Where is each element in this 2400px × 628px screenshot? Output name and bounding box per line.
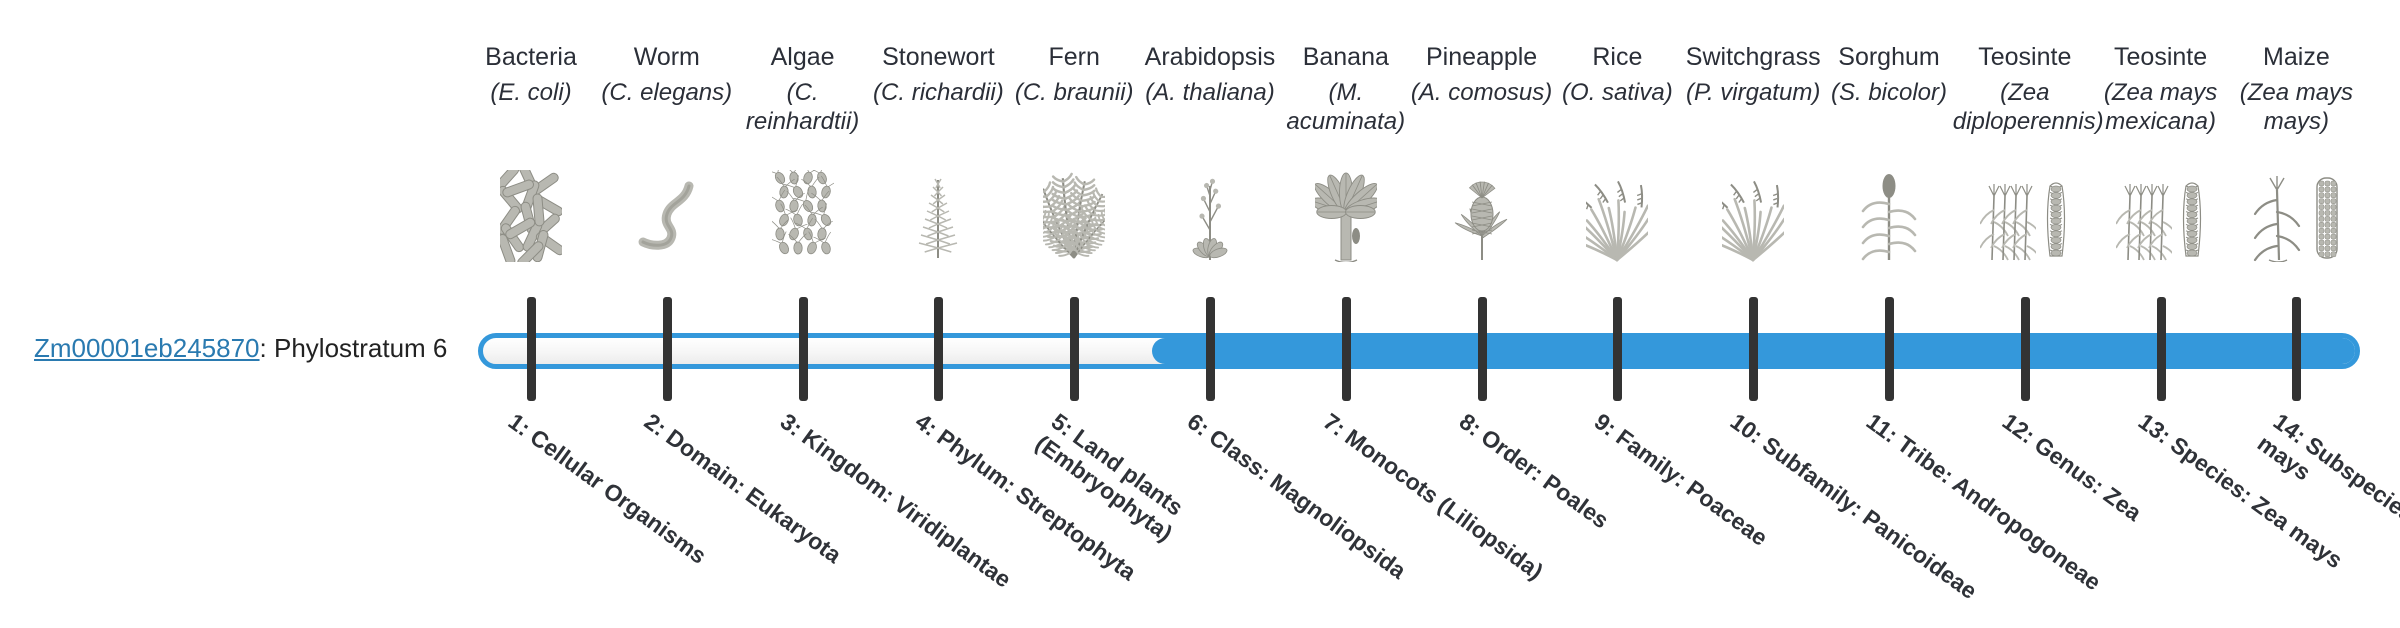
phylostratum-name: (Liliopsida) xyxy=(1433,491,1548,584)
phylostratum-tick-6 xyxy=(1206,297,1215,401)
phylostratum-label-3: 3: Kingdom: Viridiplantae xyxy=(775,408,1034,606)
phylostratum-rank: Domain: xyxy=(661,424,751,499)
species-scientific-name: (C. braunii) xyxy=(1002,78,1146,107)
phylostratum-tick-10 xyxy=(1749,297,1758,401)
gene-phylostratum-label: Zm00001eb245870: Phylostratum 6 xyxy=(34,333,447,364)
phylostratum-rank: Phylum: xyxy=(933,424,1022,498)
phylostratum-label-8: 8: Order: Poales xyxy=(1454,408,1713,606)
species-common-name: Worm xyxy=(599,42,735,72)
species-scientific-name: (C. reinhardtii) xyxy=(731,78,875,136)
phylostratum-name: Poales xyxy=(1538,469,1613,534)
species-scientific-name: (C. richardii) xyxy=(866,78,1010,107)
species-common-name: Rice xyxy=(1549,42,1685,72)
phylostratum-rank: Subfamily: xyxy=(1758,431,1868,521)
phylostratum-name: Viridiplantae xyxy=(889,491,1016,593)
bacteria-rods-icon xyxy=(463,172,599,262)
gene-label-separator: : xyxy=(260,333,274,363)
phylostratum-number: 11: xyxy=(1862,408,1903,448)
species-scientific-name: (C. elegans) xyxy=(595,78,739,107)
species-common-name: Algae xyxy=(735,42,871,72)
phylostratum-tick-1 xyxy=(527,297,536,401)
phylostratum-tick-3 xyxy=(799,297,808,401)
phylostratum-rank: Cellular xyxy=(525,424,609,495)
species-scientific-name: (Zea mays mays) xyxy=(2224,78,2368,136)
phylostratum-name: Magnoliopsida xyxy=(1265,468,1411,584)
maize-icon xyxy=(2228,172,2364,262)
phylostratum-tick-9 xyxy=(1613,297,1622,401)
species-common-name: Fern xyxy=(1006,42,1142,72)
species-common-name: Teosinte xyxy=(2093,42,2229,72)
phylostratum-rank: Subspecies: xyxy=(2301,431,2400,532)
teosinte-icon xyxy=(2093,172,2229,262)
phylostratum-tick-12 xyxy=(2021,297,2030,401)
phylostratum-rank: Family: xyxy=(1612,424,1692,492)
phylostratum-text: Phylostratum 6 xyxy=(274,333,447,363)
phylostratum-rank: Class: xyxy=(1204,424,1275,486)
species-common-name: Banana xyxy=(1278,42,1414,72)
nematode-worm-icon xyxy=(599,172,735,262)
gene-id-link[interactable]: Zm00001eb245870 xyxy=(34,333,260,363)
phylostratum-rank: Order: xyxy=(1476,424,1548,486)
phylostratum-name: Zea xyxy=(2099,482,2146,526)
phylostratum-rank: Genus: xyxy=(2030,431,2109,499)
phylostratum-tick-8 xyxy=(1478,297,1487,401)
species-common-name: Teosinte xyxy=(1957,42,2093,72)
species-scientific-name: (A. thaliana) xyxy=(1138,78,1282,107)
phylostratum-name: Panicoideae xyxy=(1858,504,1982,604)
phylostratum-label-11: 11: Tribe: Andropogoneae xyxy=(1861,408,2120,606)
species-scientific-name: (O. sativa) xyxy=(1545,78,1689,107)
phylostratum-label-1: 1: Cellular Organisms xyxy=(503,408,762,606)
species-scientific-name: (Zea diploperennis) xyxy=(1953,78,2097,136)
phylostratum-label-9: 9: Family: Poaceae xyxy=(1590,408,1849,606)
sorghum-icon xyxy=(1821,172,1957,262)
phylostratum-tick-7 xyxy=(1342,297,1351,401)
species-scientific-name: (M. acuminata) xyxy=(1274,78,1418,136)
phylostratum-tick-5 xyxy=(1070,297,1079,401)
phylostratum-number: 13: xyxy=(2133,408,2175,449)
species-scientific-name: (E. coli) xyxy=(459,78,603,107)
species-scientific-name: (S. bicolor) xyxy=(1817,78,1961,107)
teosinte-icon xyxy=(1957,172,2093,262)
phylostratum-name: Organisms xyxy=(599,477,711,569)
pineapple-icon xyxy=(1414,172,1550,262)
phylostratum-tick-14 xyxy=(2292,297,2301,401)
phylostratum-tick-2 xyxy=(663,297,672,401)
banana-plant-icon xyxy=(1278,172,1414,262)
species-common-name: Switchgrass xyxy=(1685,42,1821,72)
phylostratum-number: 10: xyxy=(1726,408,1768,449)
rice-plant-icon xyxy=(1549,172,1685,262)
arabidopsis-icon xyxy=(1142,172,1278,262)
species-common-name: Maize xyxy=(2228,42,2364,72)
phylostratum-tick-13 xyxy=(2157,297,2166,401)
phylostratum-tick-4 xyxy=(934,297,943,401)
species-scientific-name: (P. virgatum) xyxy=(1681,78,1825,107)
species-common-name: Sorghum xyxy=(1821,42,1957,72)
fern-frond-icon xyxy=(1006,172,1142,262)
phylostratum-rank: Tribe: xyxy=(1893,431,1959,489)
species-common-name: Pineapple xyxy=(1414,42,1550,72)
phylostratum-name: Eukaryota xyxy=(741,482,846,568)
phylostratigraphy-figure: Zm00001eb245870: Phylostratum 6 Bacteria… xyxy=(0,0,2400,580)
phylostratum-rank: Kingdom: xyxy=(797,424,899,508)
phylostratum-name: Poaceae xyxy=(1682,475,1773,551)
phylostratum-rank: Species: xyxy=(2165,431,2257,508)
stonewort-icon xyxy=(870,172,1006,262)
phylostratum-label-12: 12: Genus: Zea xyxy=(1997,408,2256,606)
species-common-name: Arabidopsis xyxy=(1142,42,1278,72)
species-common-name: Bacteria xyxy=(463,42,599,72)
phylostratum-label-7: 7: Monocots (Liliopsida) xyxy=(1318,408,1577,606)
phylostratum-rank: Monocots xyxy=(1340,424,1443,509)
phylostratum-tick-11 xyxy=(1885,297,1894,401)
switchgrass-icon xyxy=(1685,172,1821,262)
species-common-name: Stonewort xyxy=(870,42,1006,72)
species-scientific-name: (Zea mays mexicana) xyxy=(2089,78,2233,136)
phylostratum-progress-bar[interactable] xyxy=(478,333,2360,369)
phylostratum-label-10: 10: Subfamily: Panicoideae xyxy=(1725,408,1984,606)
species-scientific-name: (A. comosus) xyxy=(1410,78,1554,107)
algae-cells-icon xyxy=(735,172,871,262)
phylostratum-number: 12: xyxy=(1998,408,2040,449)
phylostratum-label-2: 2: Domain: Eukaryota xyxy=(639,408,898,606)
